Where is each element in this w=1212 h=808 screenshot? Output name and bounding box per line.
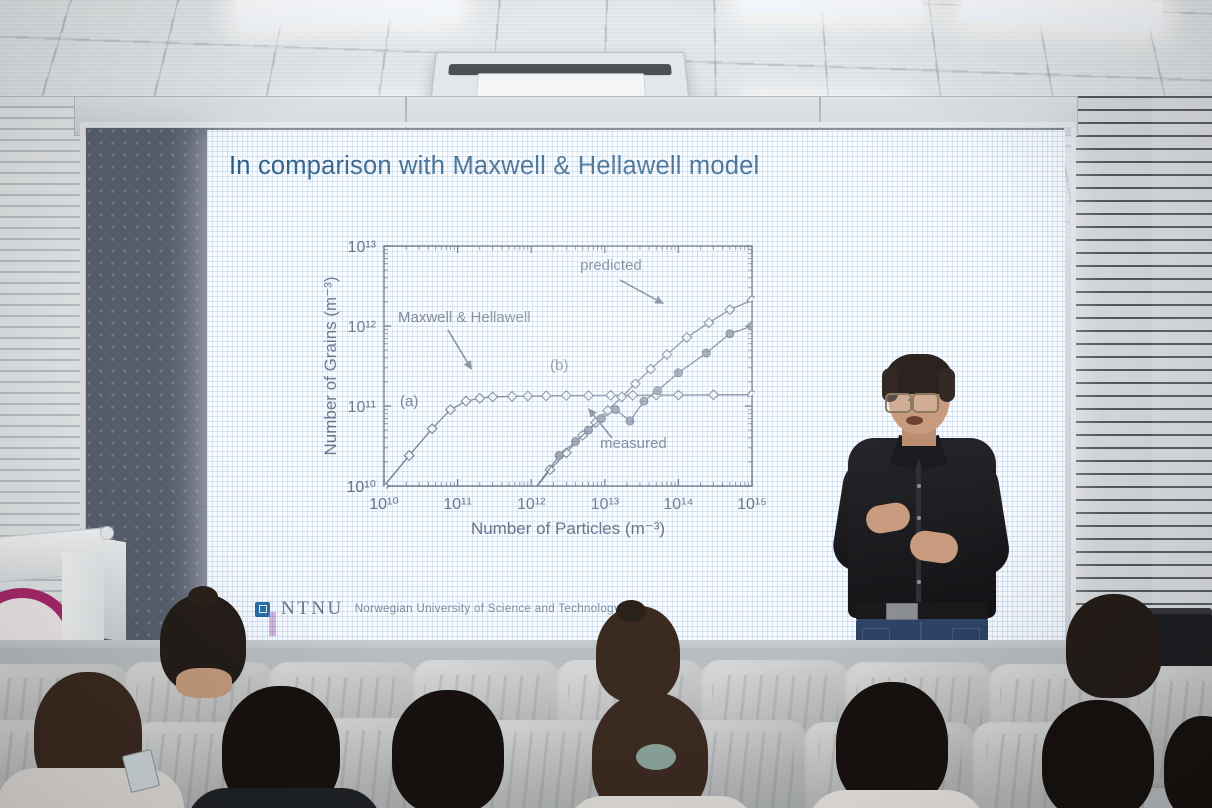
audience-head [392,690,504,808]
data-point-predicted-open [704,318,714,328]
annotation-measured: measured [600,435,667,452]
presenter-hair-side [939,368,955,402]
data-point-measured-filled [555,452,563,460]
data-point-measured-filled [626,417,634,425]
data-point-curve-a-open [475,393,485,403]
annotation--b-: (b) [550,357,568,374]
data-point-measured-filled [726,330,734,338]
data-point-measured-filled [653,387,661,395]
data-point-curve-a-open [562,391,572,401]
y-tick-label: 10¹⁰ [346,479,376,496]
ntnu-footer: NTNU Norwegian University of Science and… [255,598,620,620]
presenter-mouth [906,416,923,425]
presenter-glasses-lens [885,393,912,413]
log-log-plot: 10¹⁰10¹¹10¹²10¹³10¹⁴10¹⁵10¹⁰10¹¹10¹²10¹³… [312,230,782,560]
ntnu-wordmark: NTNU [281,598,344,620]
data-point-measured-filled [702,349,710,357]
presenter-belt-buckle [886,603,918,620]
presenter-belt [856,602,988,619]
x-tick-label: 10¹⁵ [737,496,767,513]
data-point-curve-a-open [584,391,594,401]
presenter-shirt-button [917,484,921,488]
ntnu-tagline: Norwegian University of Science and Tech… [355,603,620,615]
data-point-curve-a-open [606,391,616,401]
data-point-measured-filled [584,426,592,434]
annotation-arrow-shaft [448,330,467,362]
x-tick-label: 10¹³ [591,496,620,513]
audience-head [1042,700,1154,808]
data-point-curve-a-open [523,391,533,401]
audience-hair-bun [616,600,646,622]
audience-neck [176,668,232,698]
data-point-curve-a-open [674,390,684,400]
x-tick-label: 10¹⁴ [663,496,693,513]
data-point-measured-filled [572,437,580,445]
annotation-arrow-shaft [620,280,656,300]
data-point-curve-a-open [507,392,517,402]
ntnu-logo-icon [255,602,270,617]
annotation--a-: (a) [400,393,418,410]
presenter-shirt-button [917,580,921,584]
audience-hair-clip [636,744,676,770]
data-point-curve-a-open [628,391,638,401]
audience-shoulders [186,788,382,808]
y-tick-label: 10¹¹ [348,399,376,416]
x-tick-label: 10¹¹ [443,496,471,513]
y-tick-label: 10¹³ [348,239,377,256]
data-point-predicted-open [725,305,735,315]
audience-hair-bun [188,586,218,608]
y-tick-label: 10¹² [348,319,377,336]
data-point-measured-filled [612,406,620,414]
data-point-curve-a-open [709,390,719,400]
audience-shoulders [806,790,986,808]
audience-head [1066,594,1162,698]
x-axis-title: Number of Particles (m⁻³) [471,519,665,538]
data-point-measured-filled [640,397,648,405]
series-line-curve-a-open [384,395,752,486]
audience-shoulders [566,796,756,808]
data-point-curve-a-open [461,396,471,406]
right-acoustic-panel-edge [1152,96,1212,696]
annotation-maxwell-hellawell: Maxwell & Hellawell [398,309,531,326]
x-tick-label: 10¹² [517,496,546,513]
ntnu-accent-bar [269,612,276,636]
presenter-glasses-bridge [908,399,914,401]
data-point-measured-filled [674,369,682,377]
presenter-glasses-lens [912,393,939,413]
chart-figure: 10¹⁰10¹¹10¹²10¹³10¹⁴10¹⁵10¹⁰10¹¹10¹²10¹³… [312,230,782,560]
lectern-microphone [100,526,114,540]
x-tick-label: 10¹⁰ [369,496,399,513]
lecture-hall-photo: In comparison with Maxwell & Hellawell m… [0,0,1212,808]
annotation-predicted: predicted [580,257,642,274]
slide-title: In comparison with Maxwell & Hellawell m… [229,152,929,181]
series-line-measured-filled [528,326,752,498]
presenter-shirt-button [917,516,921,520]
data-point-curve-a-open [488,392,498,402]
y-axis-title: Number of Grains (m⁻³) [321,277,340,456]
data-point-curve-a-open [541,391,551,401]
data-point-measured-filled [748,322,756,330]
